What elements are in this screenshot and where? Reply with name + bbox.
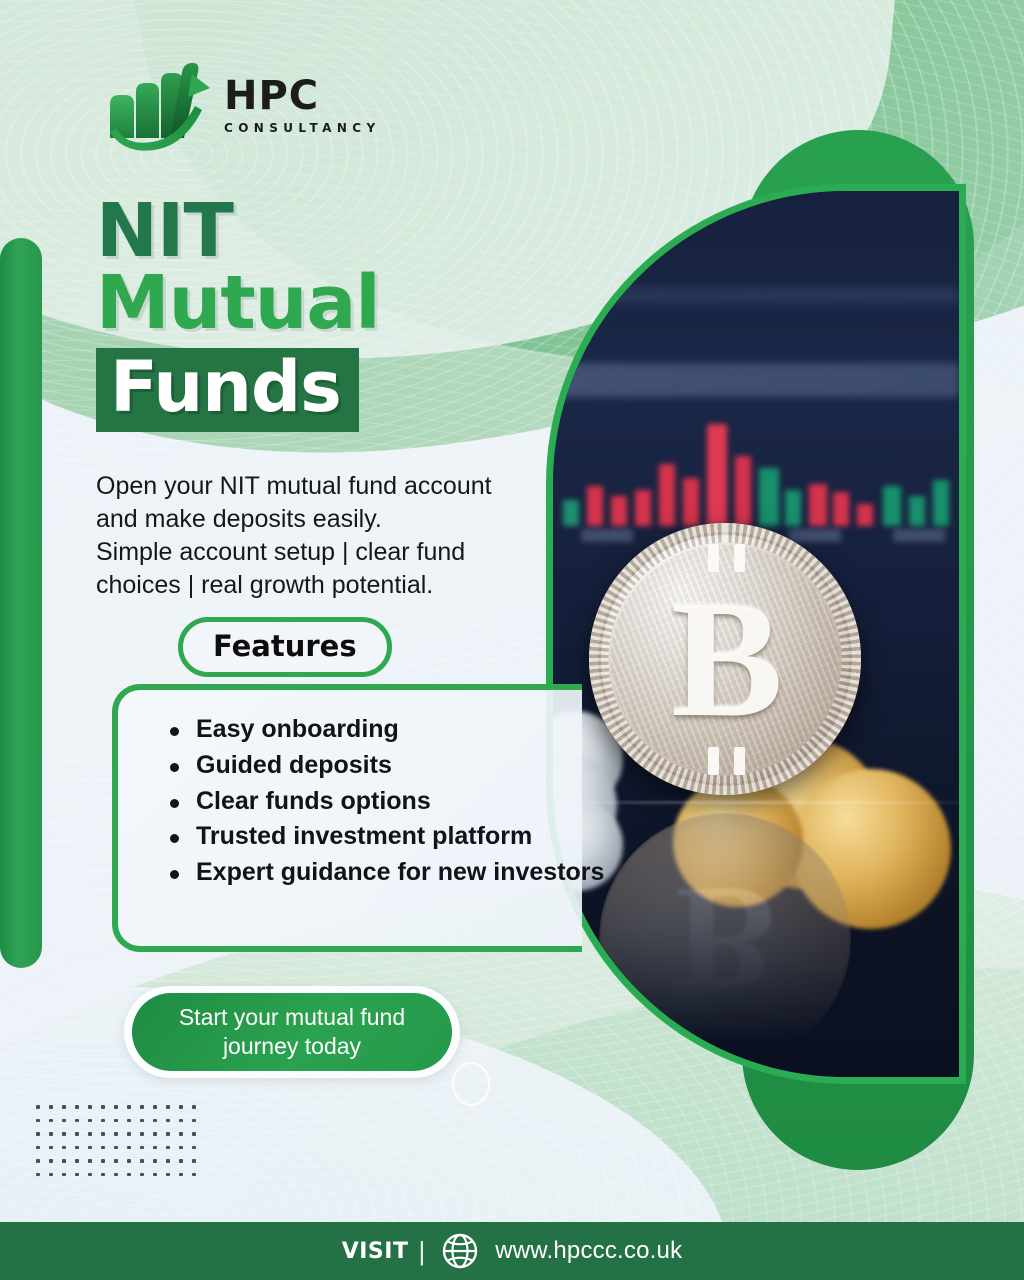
trading-screen-row-upper (553, 287, 959, 303)
list-item: Guided deposits (166, 748, 606, 784)
headline-line-3: Funds (96, 348, 359, 432)
footer-bar: VISIT | www.hpccc.co.uk (0, 1222, 1024, 1280)
poster-canvas: B B (0, 0, 1024, 1280)
globe-icon (441, 1232, 479, 1270)
bar-chart-growth-arrow-icon (96, 58, 216, 158)
headline-line-2: Mutual (96, 268, 566, 340)
decorative-circle-outline (452, 1062, 490, 1106)
logo-brand-name: HPC (224, 76, 381, 116)
footer-visit-label: VISIT (342, 1239, 409, 1264)
features-list: Easy onboarding Guided deposits Clear fu… (166, 712, 606, 891)
bitcoin-coin-reflection: B (599, 813, 851, 1065)
bitcoin-symbol-glyph: B (589, 523, 861, 795)
footer-separator: | (418, 1236, 425, 1267)
headline-line-3-wrapper: Funds (96, 348, 359, 432)
left-accent-bar (0, 238, 42, 968)
list-item: Expert guidance for new investors (166, 855, 606, 891)
candlestick-bars (553, 396, 959, 526)
features-badge: Features (178, 617, 392, 677)
reflection-surface-line (553, 801, 959, 804)
cta-line-1: Start your mutual fund (179, 1004, 405, 1030)
bitcoin-coin-icon: B (589, 523, 861, 795)
body-copy-line-1: Open your NIT mutual fund account (96, 470, 556, 503)
body-copy-line-2: and make deposits easily. (96, 503, 556, 536)
list-item: Clear funds options (166, 784, 606, 820)
logo-wordmark: HPC CONSULTANCY (224, 76, 381, 135)
bitcoin-symbol-reflection-glyph: B (599, 813, 851, 1065)
headline-line-1: NIT (96, 196, 566, 268)
list-item: Trusted investment platform (166, 819, 606, 855)
features-box: Easy onboarding Guided deposits Clear fu… (112, 684, 582, 952)
body-copy: Open your NIT mutual fund account and ma… (96, 470, 556, 602)
hero-photo-panel: B B (546, 184, 966, 1084)
brand-logo[interactable]: HPC CONSULTANCY (96, 58, 406, 162)
footer-url[interactable]: www.hpccc.co.uk (495, 1237, 682, 1265)
hero-photo-image: B B (553, 191, 959, 1077)
body-copy-line-3: Simple account setup | clear fund (96, 536, 556, 569)
logo-tagline: CONSULTANCY (224, 121, 381, 135)
cta-button[interactable]: Start your mutual fund journey today (132, 993, 452, 1071)
body-copy-line-4: choices | real growth potential. (96, 569, 556, 602)
page-title: NIT Mutual Funds (96, 196, 566, 432)
cta-line-2: journey today (223, 1033, 361, 1059)
dot-grid-decoration (36, 1105, 200, 1185)
trading-screen-row-highlight (553, 363, 959, 397)
list-item: Easy onboarding (166, 712, 606, 748)
